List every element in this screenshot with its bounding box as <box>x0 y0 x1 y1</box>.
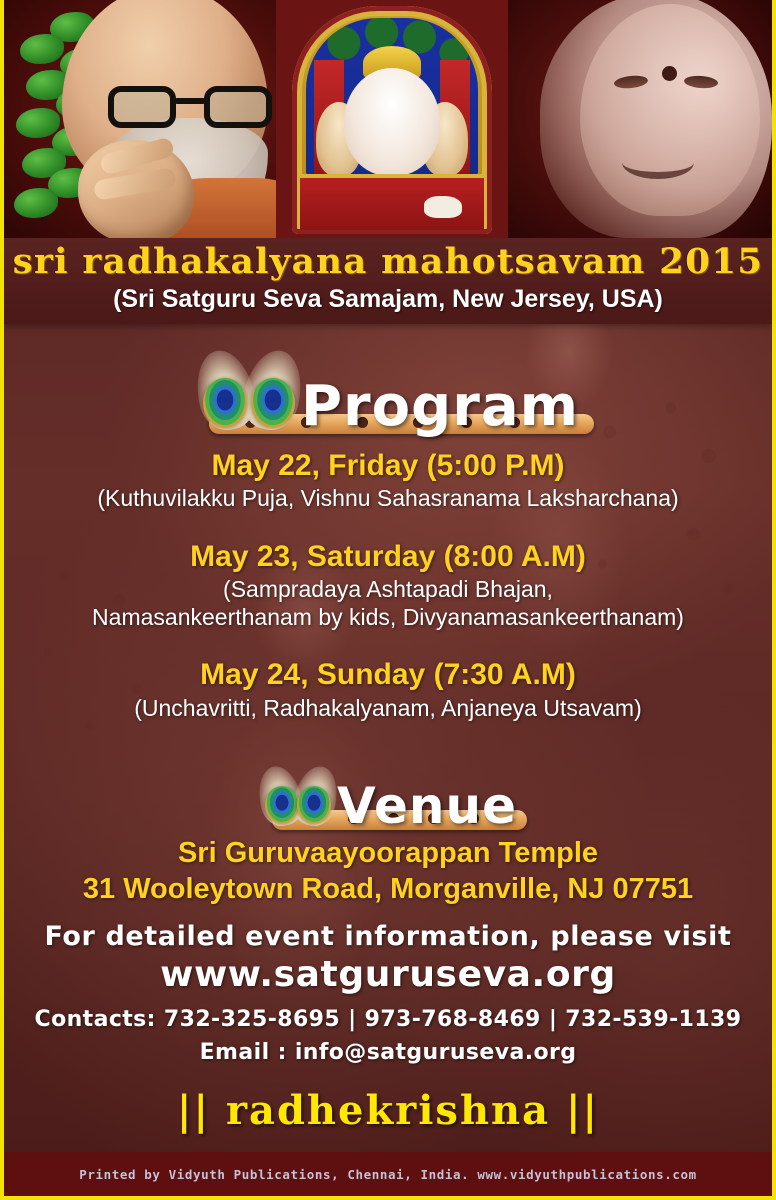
program-date: May 23, Saturday (8:00 A.M) <box>4 539 772 574</box>
mantra-text: || radhekrishna || <box>4 1087 772 1134</box>
program-item: May 23, Saturday (8:00 A.M) (Sampradaya … <box>4 539 772 632</box>
website-link[interactable]: www.satguruseva.org <box>4 954 772 995</box>
title-band: sri radhakalyana mahotsavam 2015 (Sri Sa… <box>4 238 772 324</box>
krishna-tanjore-painting <box>276 0 508 238</box>
program-date: May 24, Sunday (7:30 A.M) <box>4 657 772 692</box>
program-date: May 22, Friday (5:00 P.M) <box>4 448 772 483</box>
poster-content: sri radhakalyana mahotsavam 2015 (Sri Sa… <box>4 238 772 1134</box>
guru-portrait-right <box>508 0 772 238</box>
program-heading-group: Program <box>4 338 772 434</box>
saint-shawl-shape <box>540 0 772 238</box>
contact-phones[interactable]: Contacts: 732-325-8695 | 973-768-8469 | … <box>4 1007 772 1032</box>
cow-figure <box>424 196 462 218</box>
program-description-line2: Namasankeerthanam by kids, Divyanamasank… <box>4 604 772 632</box>
program-description-line1: (Sampradaya Ashtapadi Bhajan, <box>4 576 772 604</box>
printer-credit-bar: Printed by Vidyuth Publications, Chennai… <box>4 1152 772 1196</box>
contact-email[interactable]: Email : info@satguruseva.org <box>4 1040 772 1065</box>
program-item: May 24, Sunday (7:30 A.M) (Unchavritti, … <box>4 657 772 722</box>
glasses-icon <box>108 86 272 128</box>
program-list: May 22, Friday (5:00 P.M) (Kuthuvilakku … <box>4 448 772 723</box>
venue-street: 31 Wooleytown Road, Morganville, NJ 0775… <box>4 872 772 907</box>
page-title: sri radhakalyana mahotsavam 2015 <box>4 244 772 281</box>
header-image-strip <box>4 0 772 238</box>
contact-info-block: For detailed event information, please v… <box>4 921 772 1065</box>
program-heading: Program <box>301 381 579 434</box>
peacock-feather-icon <box>259 768 337 830</box>
program-description: (Kuthuvilakku Puja, Vishnu Sahasranama L… <box>4 485 772 513</box>
program-item: May 22, Friday (5:00 P.M) (Kuthuvilakku … <box>4 448 772 513</box>
saint-smile-shape <box>622 146 694 179</box>
venue-address: Sri Guruvaayoorappan Temple 31 Wooleytow… <box>4 836 772 907</box>
organization-subtitle: (Sri Satguru Seva Samajam, New Jersey, U… <box>4 285 772 314</box>
guru-portrait-left <box>4 0 276 238</box>
program-description: (Unchavritti, Radhakalyanam, Anjaneya Ut… <box>4 695 772 723</box>
venue-name: Sri Guruvaayoorappan Temple <box>4 836 772 871</box>
krishna-figure <box>344 68 440 176</box>
venue-heading: Venue <box>337 783 517 830</box>
tanjore-base-panel <box>300 174 484 230</box>
tanjore-frame <box>292 6 492 234</box>
visit-prompt: For detailed event information, please v… <box>4 921 772 952</box>
venue-heading-group: Venue <box>4 748 772 830</box>
poster-body: sri radhakalyana mahotsavam 2015 (Sri Sa… <box>4 238 772 1196</box>
bindi-icon <box>662 66 677 81</box>
peacock-feather-icon <box>197 350 301 434</box>
event-poster: sri radhakalyana mahotsavam 2015 (Sri Sa… <box>0 0 776 1200</box>
printer-credit: Printed by Vidyuth Publications, Chennai… <box>79 1167 697 1182</box>
